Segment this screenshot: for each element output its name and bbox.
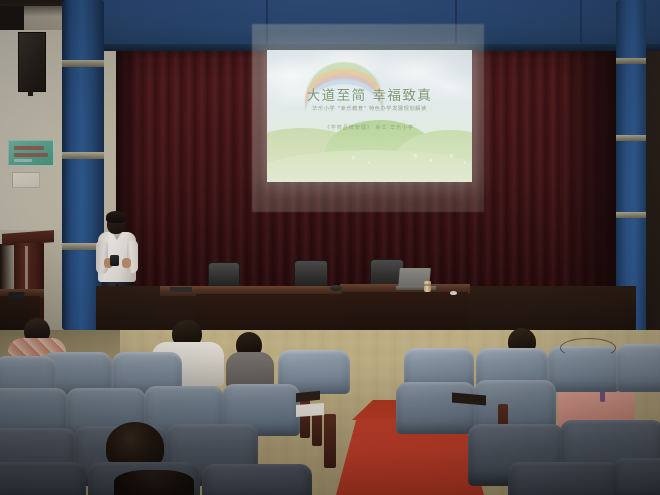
sparkle-icon: ✳ — [351, 156, 356, 162]
sparkle-icon: ✳ — [413, 154, 418, 160]
auditorium-seat[interactable] — [616, 344, 660, 392]
paper-cup-icon — [424, 281, 431, 292]
wall-speaker-icon — [18, 32, 46, 92]
wall-sign-secondary — [12, 172, 40, 188]
stage-table-right-front — [342, 292, 468, 332]
hill-foreground — [267, 150, 472, 182]
stage-chair — [294, 260, 328, 288]
wall-speaker-bracket — [28, 88, 33, 96]
paper-cup-band — [424, 284, 431, 286]
stage-table-left-front — [196, 294, 342, 334]
auditorium-seat[interactable] — [202, 464, 312, 495]
audience-torso — [226, 352, 274, 388]
column-band — [616, 58, 646, 64]
auditorium-scene: ✳ ✳ ✳ ✳ ✳ ✳ 大道至简 幸福致真 华乐小学 "幸乐教育" 特色办学发展… — [0, 0, 660, 495]
column-band — [616, 135, 646, 141]
seat-paper — [296, 403, 324, 417]
computer-mouse-icon — [450, 291, 457, 295]
sparkle-icon: ✳ — [367, 160, 370, 166]
column-band — [62, 60, 104, 67]
sparkle-icon: ✳ — [429, 158, 433, 164]
stage-chair — [208, 262, 240, 288]
presentation-slide: ✳ ✳ ✳ ✳ ✳ ✳ 大道至简 幸福致真 华乐小学 "幸乐教育" 特色办学发展… — [267, 50, 472, 182]
sparkle-icon: ✳ — [463, 160, 466, 166]
auditorium-seat[interactable] — [612, 458, 660, 495]
slide-title: 大道至简 幸福致真 — [267, 84, 472, 104]
beam-seam — [580, 0, 582, 42]
stage-tablet — [8, 292, 25, 299]
slide-subtitle-line1: 华乐小学 "幸乐教育" 特色办学发展规划解读 — [267, 105, 472, 112]
sparkle-icon: ✳ — [449, 154, 454, 160]
presenter-arm-right — [127, 240, 138, 273]
slide-subtitle-line2: 《学校品牌管理》 余工 华乐小学 — [267, 124, 472, 131]
seat-armrest — [324, 414, 336, 468]
presenter-hair — [106, 211, 126, 223]
auditorium-seat[interactable] — [508, 462, 620, 495]
presenter-phone-icon — [110, 255, 119, 266]
presenter-hand-right — [122, 258, 131, 268]
curtain-right-fold — [560, 30, 616, 302]
presenter-arm-left — [96, 240, 108, 274]
microphone-base-icon — [330, 285, 342, 291]
audience-shoulders-foreground — [114, 470, 194, 495]
auditorium-seat[interactable] — [0, 462, 86, 495]
stage-documents — [170, 287, 192, 292]
auditorium-seat[interactable] — [396, 382, 476, 434]
column-band — [62, 152, 104, 159]
column-band — [616, 212, 646, 218]
floor-cable — [560, 338, 616, 358]
wall-sign-banner — [8, 140, 54, 166]
